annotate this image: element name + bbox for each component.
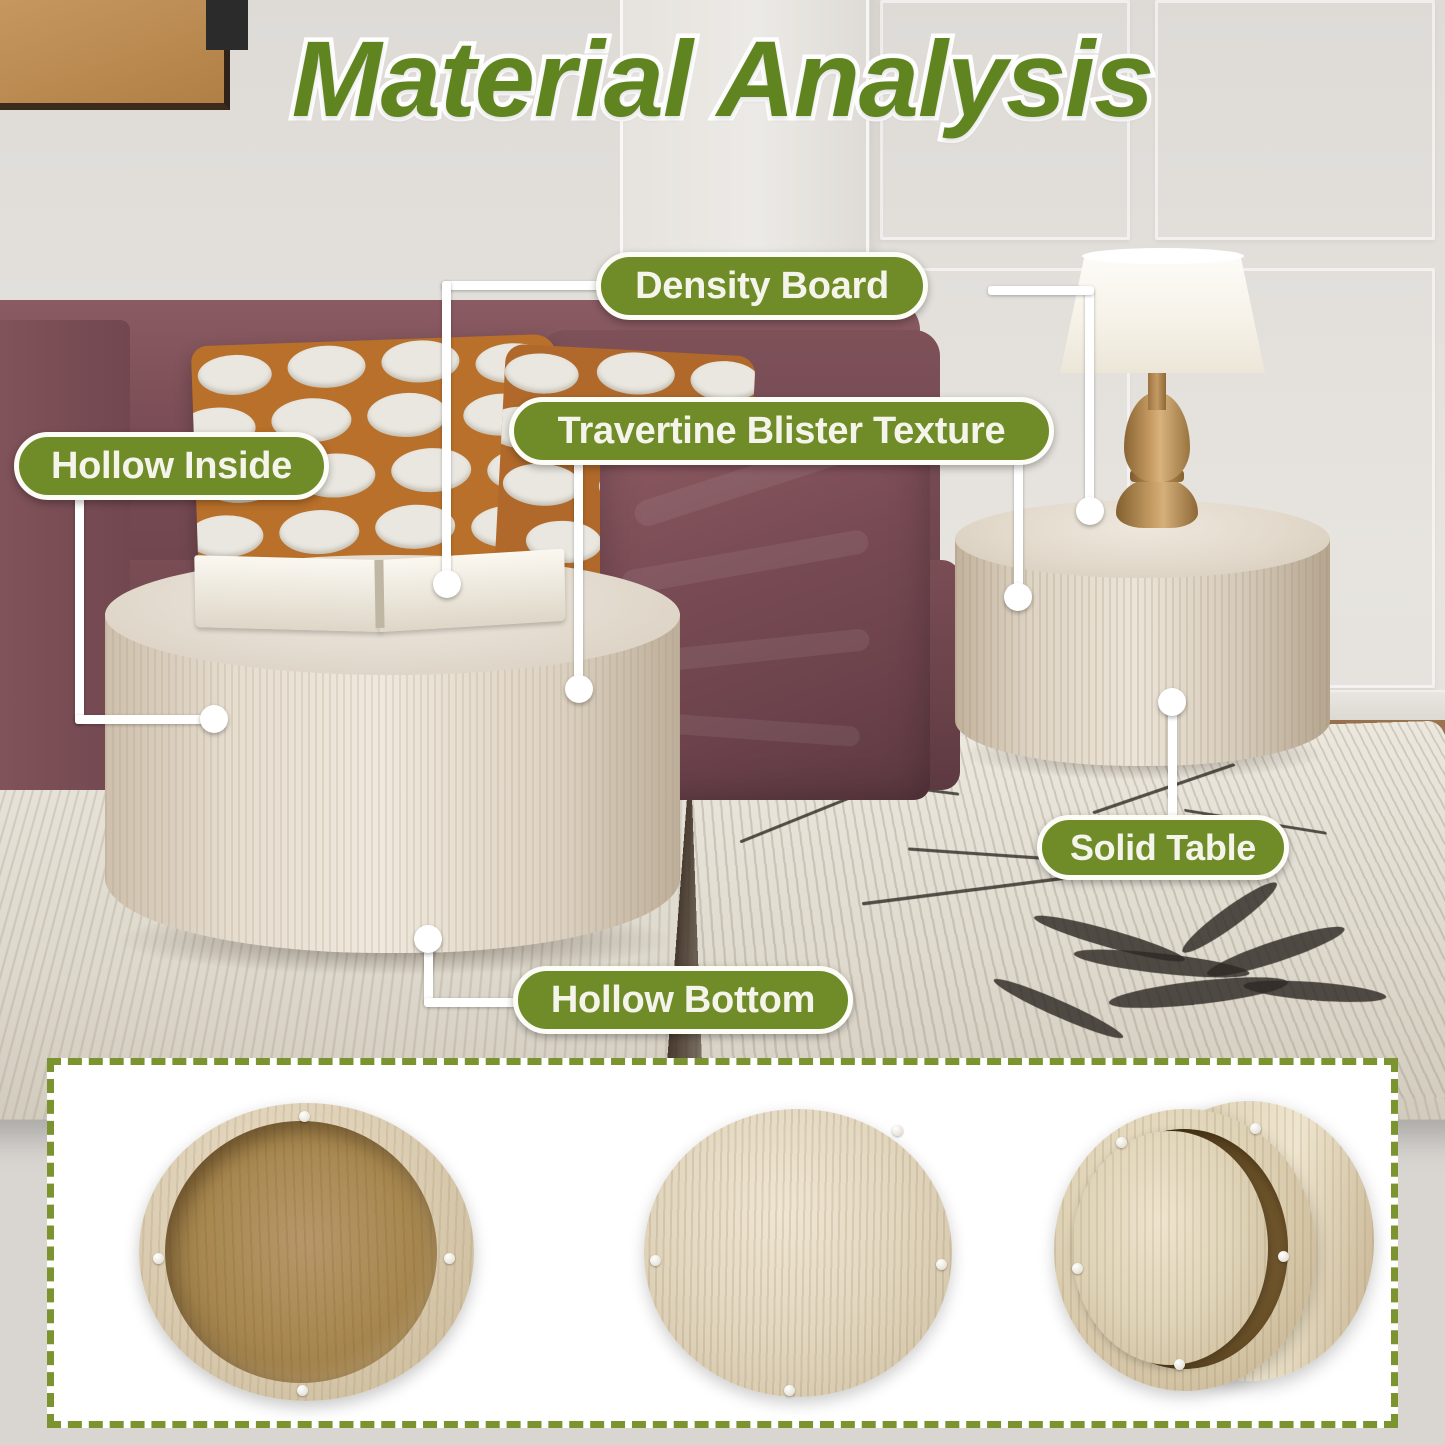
leader-line-density-board-v — [442, 281, 451, 586]
leader-line-travertine-v — [574, 460, 583, 695]
leader-line-density-board-h — [442, 281, 614, 290]
leader-line-hollow-inside-h — [75, 715, 215, 724]
leader-line-solid-table-top-v — [1085, 290, 1094, 505]
callout-label: Travertine Blister Texture — [558, 410, 1006, 453]
leader-line-solid-table-side-v — [1014, 455, 1023, 595]
callout-label: Hollow Bottom — [551, 979, 815, 1022]
callout-label: Solid Table — [1070, 827, 1256, 869]
leader-dot-hollow-bottom — [414, 925, 442, 953]
leader-dot-solid-table — [1158, 688, 1186, 716]
callout-label: Hollow Inside — [51, 445, 292, 488]
leader-dot-solid-table-top — [1076, 497, 1104, 525]
hollow-piece-illustration — [139, 1103, 474, 1401]
leader-dot-travertine — [565, 675, 593, 703]
callout-travertine-blister-texture[interactable]: Travertine Blister Texture — [509, 397, 1054, 465]
stackable-pieces-illustration — [1054, 1091, 1374, 1409]
round-travertine-side-table — [955, 500, 1330, 775]
leader-dot-solid-table-side — [1004, 583, 1032, 611]
leader-line-solid-table-v — [1168, 700, 1177, 818]
leader-dot-hollow-inside — [200, 705, 228, 733]
table-lamp-neck — [1148, 368, 1166, 410]
table-lamp-shade-top — [1082, 248, 1244, 264]
callout-hollow-inside[interactable]: Hollow Inside — [14, 432, 329, 500]
leader-line-hollow-inside-v — [75, 494, 84, 724]
open-book — [194, 553, 565, 637]
leader-line-solid-table-top-h — [988, 286, 1094, 295]
callout-solid-table[interactable]: Solid Table — [1037, 815, 1289, 880]
callout-hollow-bottom[interactable]: Hollow Bottom — [513, 966, 853, 1034]
infographic-image: Density Board Travertine Blister Texture… — [0, 0, 1445, 1445]
callout-label: Density Board — [635, 265, 889, 308]
leader-dot-density-board — [433, 570, 461, 598]
solid-piece-illustration — [644, 1109, 952, 1397]
page-title: Material Analysis — [0, 22, 1445, 135]
callout-density-board[interactable]: Density Board — [596, 252, 928, 320]
material-composition-panel: Hollow Solid — [47, 1058, 1398, 1428]
